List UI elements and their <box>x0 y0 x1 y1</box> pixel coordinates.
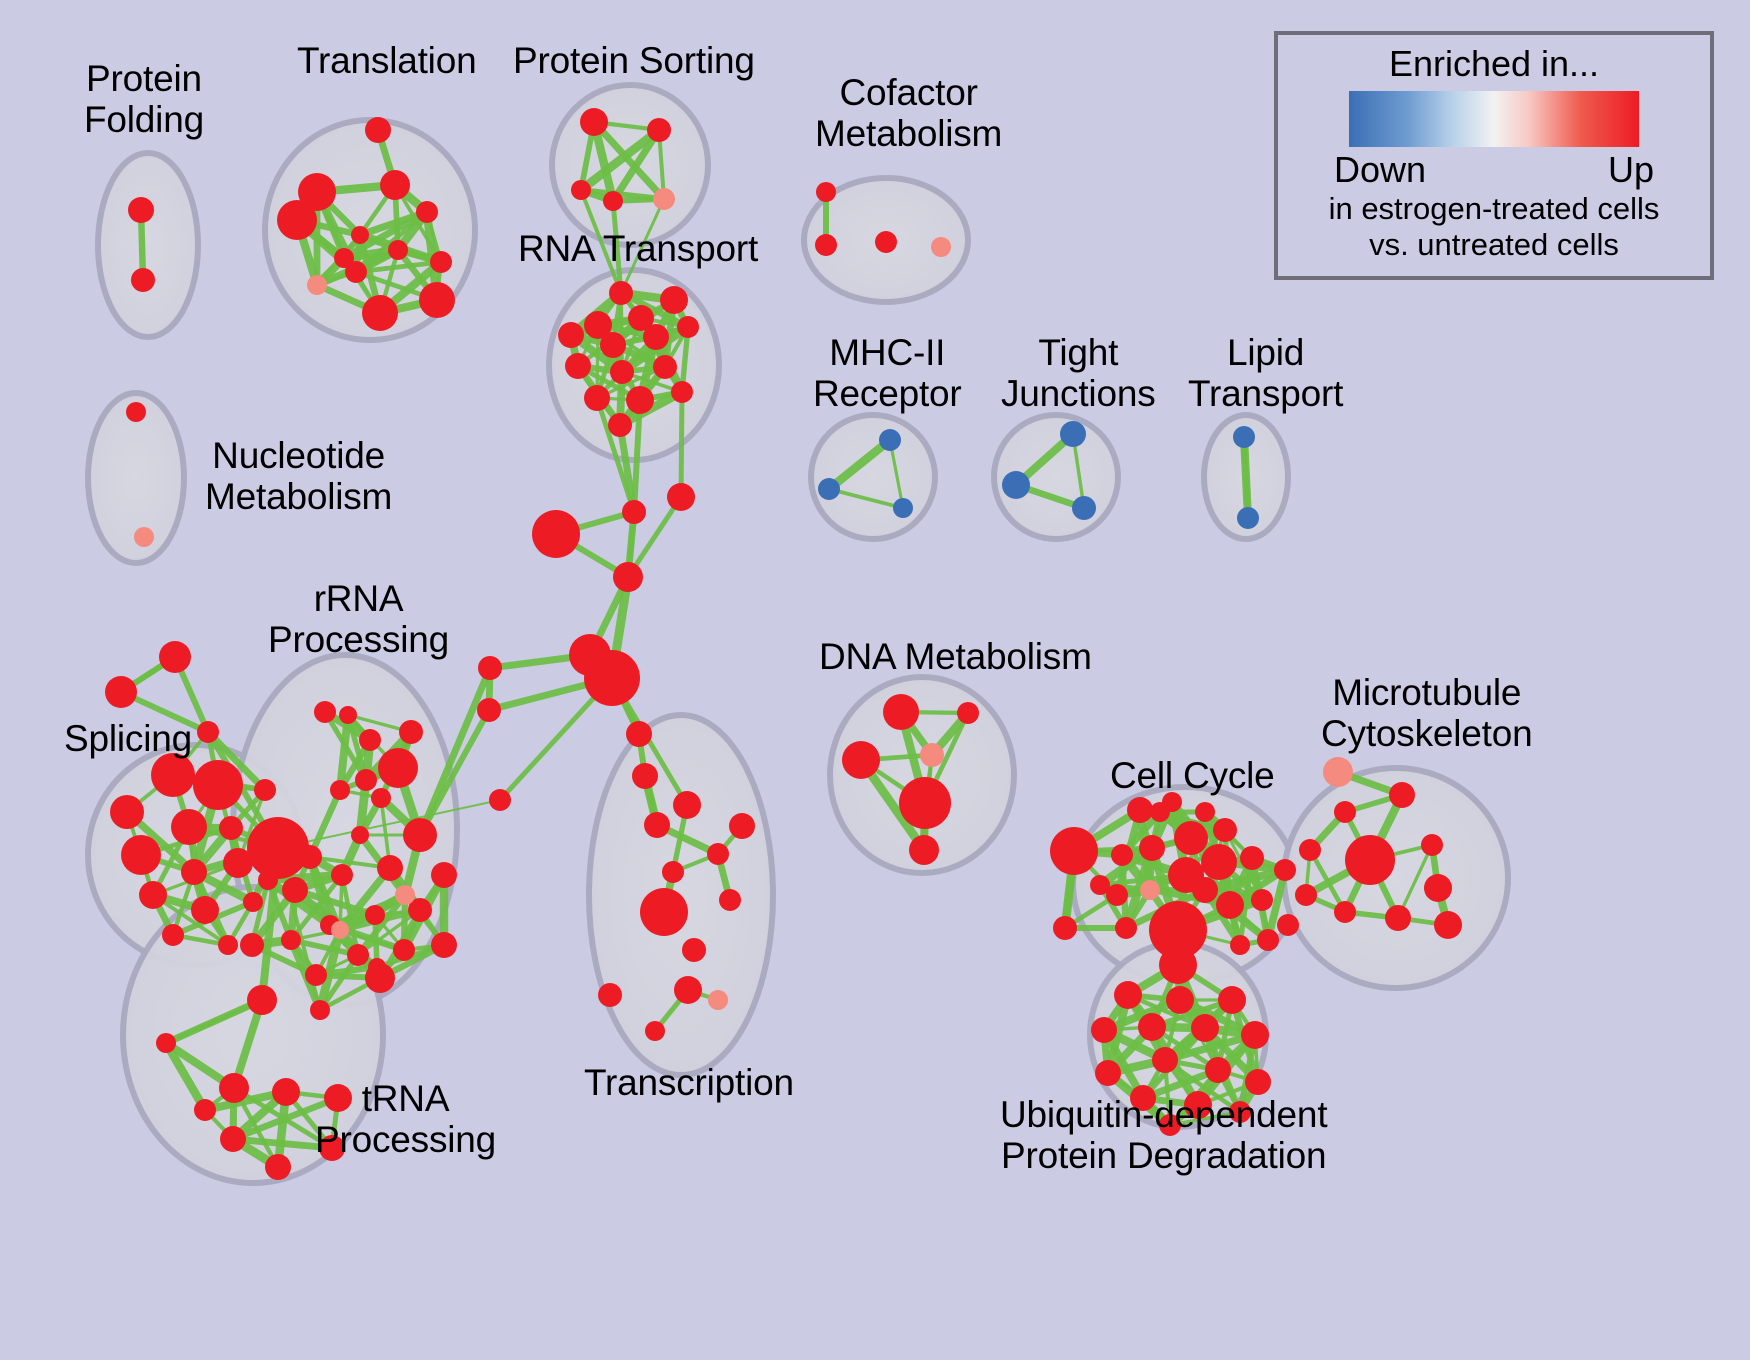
network-node[interactable] <box>419 282 455 318</box>
network-node[interactable] <box>1323 757 1353 787</box>
network-node[interactable] <box>1205 1057 1231 1083</box>
network-node[interactable] <box>603 191 623 211</box>
legend-caption-line2: vs. untreated cells <box>1369 227 1619 263</box>
network-edge <box>681 392 682 497</box>
legend-low-label: Down <box>1334 149 1426 191</box>
pathway-network-figure: Protein FoldingTranslationNucleotide Met… <box>0 0 1750 1360</box>
network-node[interactable] <box>584 385 610 411</box>
cluster-ellipse-mhc-ii-receptor <box>811 415 935 539</box>
network-node[interactable] <box>1111 844 1133 866</box>
network-node[interactable] <box>219 816 243 840</box>
network-node[interactable] <box>600 332 626 358</box>
network-node[interactable] <box>191 896 219 924</box>
cluster-label-ubiquitin-protein-degradation: Ubiquitin-dependent Protein Degradation <box>1000 1094 1327 1177</box>
network-node[interactable] <box>610 360 634 384</box>
cluster-label-lipid-transport: Lipid Transport <box>1188 332 1343 415</box>
network-node[interactable] <box>1166 986 1194 1014</box>
network-node[interactable] <box>818 478 840 500</box>
network-node[interactable] <box>1140 880 1160 900</box>
network-node[interactable] <box>626 721 652 747</box>
network-node[interactable] <box>1334 801 1356 823</box>
network-node[interactable] <box>139 881 167 909</box>
network-node[interactable] <box>729 813 755 839</box>
network-node[interactable] <box>156 1033 176 1053</box>
network-node[interactable] <box>365 117 391 143</box>
network-node[interactable] <box>378 748 418 788</box>
cluster-label-nucleotide-metabolism: Nucleotide Metabolism <box>205 435 392 518</box>
network-node[interactable] <box>371 788 391 808</box>
network-node[interactable] <box>478 656 502 680</box>
network-node[interactable] <box>667 483 695 511</box>
network-node[interactable] <box>334 248 354 268</box>
network-node[interactable] <box>957 702 979 724</box>
network-node[interactable] <box>1192 877 1218 903</box>
network-node[interactable] <box>673 791 701 819</box>
network-node[interactable] <box>134 527 154 547</box>
network-node[interactable] <box>1139 835 1165 861</box>
network-node[interactable] <box>399 720 423 744</box>
network-node[interactable] <box>489 789 511 811</box>
network-node[interactable] <box>330 780 350 800</box>
network-node[interactable] <box>815 234 837 256</box>
network-node[interactable] <box>377 855 403 881</box>
network-node[interactable] <box>899 777 951 829</box>
network-node[interactable] <box>339 706 357 724</box>
network-node[interactable] <box>883 694 919 730</box>
legend-title: Enriched in... <box>1389 43 1599 85</box>
network-node[interactable] <box>598 983 622 1007</box>
legend-high-label: Up <box>1608 149 1654 191</box>
cluster-label-protein-sorting: Protein Sorting <box>513 40 755 81</box>
network-node[interactable] <box>393 939 415 961</box>
network-node[interactable] <box>430 251 452 273</box>
network-node[interactable] <box>247 817 309 879</box>
network-node[interactable] <box>351 226 369 244</box>
network-node[interactable] <box>626 386 654 414</box>
network-node[interactable] <box>532 510 580 558</box>
network-node[interactable] <box>609 281 633 305</box>
network-node[interactable] <box>677 316 699 338</box>
network-node[interactable] <box>1138 1013 1166 1041</box>
network-node[interactable] <box>1274 859 1296 881</box>
network-node[interactable] <box>640 888 688 936</box>
legend-endpoint-labels: Down Up <box>1334 149 1654 191</box>
network-node[interactable] <box>219 1073 249 1103</box>
network-node[interactable] <box>218 935 238 955</box>
network-node[interactable] <box>707 843 729 865</box>
network-node[interactable] <box>1245 1069 1271 1095</box>
network-node[interactable] <box>842 741 880 779</box>
network-node[interactable] <box>893 498 913 518</box>
network-node[interactable] <box>1201 844 1237 880</box>
network-node[interactable] <box>351 826 369 844</box>
network-node[interactable] <box>331 921 349 939</box>
cluster-label-transcription: Transcription <box>584 1062 794 1103</box>
network-node[interactable] <box>1434 911 1462 939</box>
cluster-label-protein-folding: Protein Folding <box>84 58 204 141</box>
network-node[interactable] <box>281 930 301 950</box>
network-node[interactable] <box>1241 1021 1269 1049</box>
network-node[interactable] <box>416 201 438 223</box>
network-node[interactable] <box>643 324 669 350</box>
network-node[interactable] <box>584 650 640 706</box>
network-node[interactable] <box>875 231 897 253</box>
network-node[interactable] <box>1191 1014 1219 1042</box>
cluster-label-microtubule-cytoskeleton: Microtubule Cytoskeleton <box>1321 672 1533 755</box>
network-node[interactable] <box>920 743 944 767</box>
network-node[interactable] <box>282 877 308 903</box>
network-node[interactable] <box>265 1154 291 1180</box>
network-node[interactable] <box>1230 935 1250 955</box>
network-node[interactable] <box>1152 1047 1178 1073</box>
network-node[interactable] <box>314 701 336 723</box>
network-node[interactable] <box>258 870 278 890</box>
network-node[interactable] <box>608 413 632 437</box>
network-node[interactable] <box>105 676 137 708</box>
network-node[interactable] <box>1002 471 1030 499</box>
network-node[interactable] <box>477 698 501 722</box>
cluster-label-translation: Translation <box>297 40 476 81</box>
cluster-label-trna-processing: tRNA Processing <box>315 1078 496 1161</box>
network-node[interactable] <box>671 381 693 403</box>
network-node[interactable] <box>194 1099 216 1121</box>
network-node[interactable] <box>193 760 243 810</box>
network-node[interactable] <box>162 924 184 946</box>
network-node[interactable] <box>1115 917 1137 939</box>
network-node[interactable] <box>159 641 191 673</box>
network-node[interactable] <box>1345 835 1395 885</box>
network-node[interactable] <box>1240 846 1264 870</box>
cluster-label-cell-cycle: Cell Cycle <box>1110 755 1275 796</box>
network-node[interactable] <box>307 275 327 295</box>
network-node[interactable] <box>660 286 688 314</box>
network-node[interactable] <box>1421 834 1443 856</box>
network-node[interactable] <box>879 429 901 451</box>
network-node[interactable] <box>708 990 728 1010</box>
cluster-label-cofactor-metabolism: Cofactor Metabolism <box>815 72 1002 155</box>
network-node[interactable] <box>431 932 457 958</box>
network-node[interactable] <box>403 818 437 852</box>
network-node[interactable] <box>331 864 353 886</box>
network-node[interactable] <box>644 812 670 838</box>
network-node[interactable] <box>1295 884 1317 906</box>
network-node[interactable] <box>816 182 836 202</box>
network-node[interactable] <box>645 1021 665 1041</box>
network-node[interactable] <box>1385 905 1411 931</box>
network-node[interactable] <box>1053 916 1077 940</box>
network-node[interactable] <box>1424 874 1452 902</box>
network-node[interactable] <box>909 835 939 865</box>
network-node[interactable] <box>247 985 277 1015</box>
network-node[interactable] <box>682 938 706 962</box>
network-node[interactable] <box>1095 1060 1121 1086</box>
network-node[interactable] <box>571 180 591 200</box>
network-node[interactable] <box>298 845 322 869</box>
network-node[interactable] <box>1195 802 1215 822</box>
network-node[interactable] <box>613 562 643 592</box>
network-node[interactable] <box>1127 797 1153 823</box>
network-node[interactable] <box>431 862 457 888</box>
network-node[interactable] <box>565 353 591 379</box>
network-node[interactable] <box>1251 889 1273 911</box>
network-node[interactable] <box>1218 986 1246 1014</box>
network-node[interactable] <box>1277 914 1299 936</box>
network-node[interactable] <box>1257 929 1279 951</box>
network-node[interactable] <box>305 964 327 986</box>
network-node[interactable] <box>380 170 410 200</box>
network-node[interactable] <box>121 835 161 875</box>
network-node[interactable] <box>1091 1017 1117 1043</box>
network-node[interactable] <box>128 197 154 223</box>
network-node[interactable] <box>131 268 155 292</box>
network-node[interactable] <box>653 355 677 379</box>
cluster-label-tight-junctions: Tight Junctions <box>1001 332 1156 415</box>
network-node[interactable] <box>347 944 369 966</box>
network-node[interactable] <box>355 769 377 791</box>
cluster-label-rna-transport: RNA Transport <box>518 228 758 269</box>
network-node[interactable] <box>662 861 684 883</box>
network-node[interactable] <box>254 779 276 801</box>
cluster-ellipse-transcription <box>589 715 773 1075</box>
network-node[interactable] <box>1060 421 1086 447</box>
cluster-label-mhc-ii-receptor: MHC-II Receptor <box>813 332 962 415</box>
network-node[interactable] <box>719 889 741 911</box>
network-node[interactable] <box>1050 827 1098 875</box>
network-node[interactable] <box>558 322 584 348</box>
cluster-label-rrna-processing: rRNA Processing <box>268 578 449 661</box>
network-node[interactable] <box>1299 839 1321 861</box>
network-node[interactable] <box>622 500 646 524</box>
network-node[interactable] <box>653 188 675 210</box>
network-node[interactable] <box>1213 818 1237 842</box>
network-node[interactable] <box>359 729 381 751</box>
network-node[interactable] <box>931 237 951 257</box>
network-node[interactable] <box>1090 875 1110 895</box>
legend-color-gradient-bar <box>1349 91 1639 147</box>
network-node[interactable] <box>310 1000 330 1020</box>
network-node[interactable] <box>580 108 608 136</box>
network-node[interactable] <box>277 200 317 240</box>
network-node[interactable] <box>110 795 144 829</box>
network-node[interactable] <box>365 963 395 993</box>
network-node[interactable] <box>1233 426 1255 448</box>
network-node[interactable] <box>151 753 195 797</box>
cluster-label-splicing: Splicing <box>64 718 192 759</box>
network-node[interactable] <box>1159 946 1197 984</box>
network-node[interactable] <box>362 295 398 331</box>
network-node[interactable] <box>272 1078 300 1106</box>
network-node[interactable] <box>1334 901 1356 923</box>
network-node[interactable] <box>1389 782 1415 808</box>
network-node[interactable] <box>181 859 207 885</box>
network-node[interactable] <box>126 402 146 422</box>
network-node[interactable] <box>388 240 408 260</box>
network-node[interactable] <box>632 763 658 789</box>
network-node[interactable] <box>220 1126 246 1152</box>
network-node[interactable] <box>1174 821 1208 855</box>
network-node[interactable] <box>243 892 263 912</box>
network-node[interactable] <box>674 976 702 1004</box>
network-node[interactable] <box>197 721 219 743</box>
network-node[interactable] <box>240 933 264 957</box>
cluster-label-dna-metabolism: DNA Metabolism <box>819 636 1092 677</box>
network-node[interactable] <box>1237 507 1259 529</box>
network-node[interactable] <box>1150 802 1170 822</box>
network-node[interactable] <box>171 809 207 845</box>
legend-caption-line1: in estrogen-treated cells <box>1329 191 1660 227</box>
network-node[interactable] <box>1114 981 1142 1009</box>
legend-panel: Enriched in... Down Up in estrogen-treat… <box>1274 31 1714 280</box>
network-node[interactable] <box>1216 891 1244 919</box>
network-node[interactable] <box>395 885 415 905</box>
network-node[interactable] <box>365 905 385 925</box>
cluster-ellipse-protein-folding <box>98 153 198 337</box>
network-node[interactable] <box>647 118 671 142</box>
network-node[interactable] <box>1072 496 1096 520</box>
